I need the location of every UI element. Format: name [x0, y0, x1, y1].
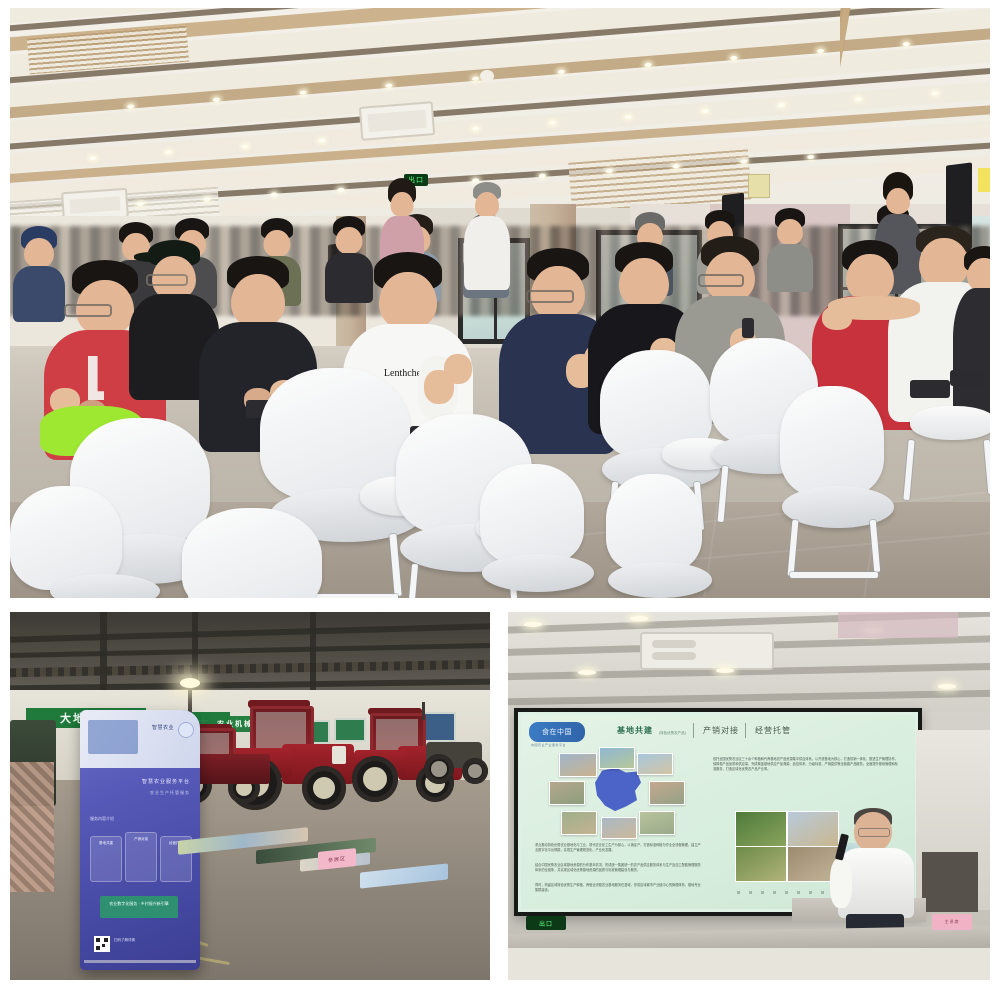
glasses [526, 290, 574, 303]
mobile-phone [742, 318, 754, 338]
rollup-highlight-label: 农业数字化服务 · 乡村振兴新引擎 [103, 901, 175, 907]
slide-nav-item-2: 产销对接 [703, 725, 739, 736]
ceiling-light [524, 622, 542, 627]
photo-tractor-expo: 大地农业 天地 大 农业机械展示中心 [10, 612, 490, 980]
rollup-base [84, 960, 196, 963]
photo-lecture-presentation: 食在中国 中国农业产业服务平台 基地共建 (特色优势农产品) 产销对接 经营托管 [508, 612, 990, 980]
slide-thumbnail [649, 781, 685, 805]
wall-plaque [748, 174, 770, 198]
glasses [64, 304, 112, 317]
rollup-stand [86, 968, 194, 970]
ceiling-light [630, 616, 648, 621]
ceiling-light [716, 668, 734, 673]
slide-grid-photo [735, 811, 787, 847]
glasses [146, 274, 188, 286]
presenter-glasses [858, 828, 890, 837]
slide-grid-photo [735, 846, 787, 882]
slide-paragraph-4: 同时，构建区域特色优势生产种植、养殖全流程农业基地服务在县域，形成区域城市产业链… [535, 883, 703, 893]
ceiling-panel-pink [838, 612, 958, 638]
slide-logo-sub: 中国农业产业服务平台 [531, 743, 566, 747]
seminar-chair[interactable] [182, 508, 342, 598]
speaker-name-card: 主讲席 [932, 914, 972, 930]
slide-grid-photo [787, 811, 839, 847]
table-name-card-label: 参展区 [328, 855, 346, 864]
china-map-graphic [593, 767, 643, 813]
slide-nav-sub-1: (特色优势农产品) [659, 731, 686, 736]
slide-thumbnail [559, 753, 597, 777]
slide-thumbnail [639, 811, 675, 835]
slide-paragraph-2: 重点推动特色优势农业基地化与工业、现代农业化工生产为核心，以销定产，打造标准种植… [535, 843, 703, 853]
rollup-title: 智慧农业服务平台 [110, 778, 190, 785]
smoke-detector [480, 70, 494, 82]
rollup-card-label: 产销对接 [130, 837, 152, 842]
slide-thumbnail [561, 811, 597, 835]
tractor-fourth [422, 722, 490, 794]
tractor-tag [332, 746, 346, 764]
exit-sign: 出口 [526, 916, 566, 930]
rollup-card-label: 基地共建 [95, 841, 117, 846]
side-cabinet [922, 852, 978, 912]
seminar-chair[interactable] [890, 336, 990, 516]
stacked-goods [10, 762, 54, 892]
rollup-logo-label: 智慧农业 [152, 724, 174, 731]
ceiling-ac-unit [359, 101, 435, 141]
audience-crowd: Lenthcheq [10, 218, 990, 598]
slide-paragraph-3: 结合中国优势农业区域基地资源的分布基本情况，形成统一集团统一的农产品供应服务体系… [535, 863, 703, 873]
slide-logo-label: 食在中国 [542, 727, 572, 737]
photo-collage: 出口 [0, 0, 1000, 1000]
slide-nav-item-3: 经营托管 [755, 725, 791, 736]
wall-notice [978, 168, 990, 192]
exhaust-pipe [422, 702, 425, 720]
ceiling-light [578, 670, 596, 675]
exit-sign-label: 出口 [539, 919, 553, 928]
rollup-subtitle: 农业生产托管服务 [110, 790, 190, 796]
seminar-chair[interactable] [480, 464, 610, 598]
slide-thumbnail [637, 753, 673, 775]
rollup-body: 服务内容介绍 [90, 816, 190, 822]
slide-thumbnail [599, 747, 635, 769]
slide-thumbnail [549, 781, 585, 805]
seminar-chair[interactable] [10, 486, 140, 598]
slide-nav-divider [745, 723, 746, 738]
slide-paragraph-1: 依托全国优势农业区三十余个种植和代养基地农产品资源集中供应体系，以开放基地为核心… [713, 757, 899, 772]
ceiling-ac-unit [640, 632, 774, 670]
qr-code [94, 936, 110, 952]
rollup-header-image [88, 720, 138, 754]
qr-caption: 扫码了解详情 [114, 938, 135, 943]
slide-nav-divider [693, 723, 694, 738]
slide-logo: 食在中国 [529, 722, 585, 742]
front-wall [508, 948, 990, 980]
slide-thumbnail [601, 817, 637, 839]
slide-nav-item-1: 基地共建 [617, 725, 653, 736]
speaker-name-card-label: 主讲席 [945, 919, 960, 925]
photo-seminar-hall-audience: 出口 [10, 8, 990, 598]
work-light [180, 678, 200, 688]
glasses [698, 274, 744, 287]
rollup-highlight: 农业数字化服务 · 乡村振兴新引擎 [100, 896, 178, 918]
ceiling-light [938, 684, 956, 689]
rollup-card: 基地共建 [90, 836, 122, 882]
presenter-arm [830, 858, 852, 908]
rollup-card: 产销对接 [125, 832, 157, 882]
rollup-logo-mark [178, 722, 194, 738]
seminar-chair[interactable] [606, 474, 746, 598]
